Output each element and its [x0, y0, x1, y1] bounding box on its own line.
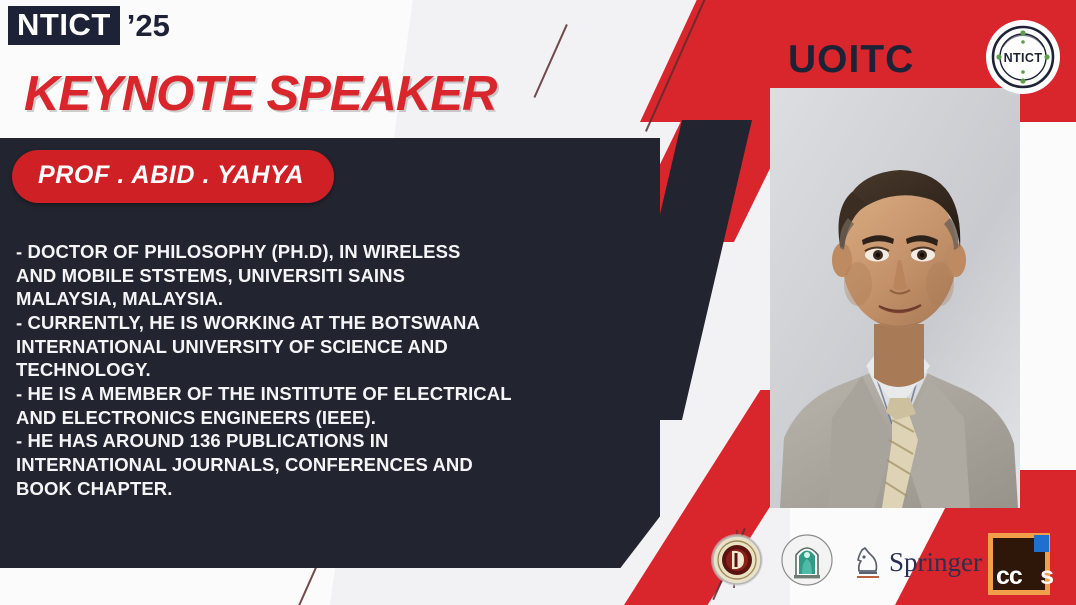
- keynote-speaker-poster: NTICT ’25 KEYNOTE SPEAKER PROF . ABID . …: [0, 0, 1076, 605]
- ccis-inner-square: cc s: [993, 538, 1045, 590]
- bio-line: - HE HAS AROUND 136 PUBLICATIONS IN: [16, 429, 666, 453]
- ntict-wordmark: NTICT: [8, 6, 120, 45]
- arch-emblem-icon: [780, 532, 834, 593]
- sponsor-logo-strip: Springer: [708, 530, 982, 595]
- bio-line: AND ELECTRONICS ENGINEERS (IEEE).: [16, 406, 666, 430]
- bio-line: - HE IS A MEMBER OF THE INSTITUTE OF ELE…: [16, 382, 666, 406]
- university-seal-icon: [708, 530, 766, 595]
- bio-line: INTERNATIONAL JOURNALS, CONFERENCES AND: [16, 453, 666, 477]
- springer-logo: Springer: [852, 544, 982, 582]
- ntict-circular-badge-icon: NTICT: [986, 20, 1060, 94]
- ntict-year: ’25: [127, 10, 170, 41]
- ccis-label-main: cc: [996, 564, 1022, 589]
- speaker-photo: [770, 88, 1020, 508]
- bio-line: TECHNOLOGY.: [16, 358, 666, 382]
- bio-line: - CURRENTLY, HE IS WORKING AT THE BOTSWA…: [16, 311, 666, 335]
- speaker-bio: - DOCTOR OF PHILOSOPHY (PH.D), IN WIRELE…: [16, 240, 666, 500]
- bio-line: AND MOBILE STSTEMS, UNIVERSITI SAINS: [16, 264, 666, 288]
- ccis-logo-icon: cc s: [988, 533, 1050, 595]
- speaker-name-badge: PROF . ABID . YAHYA: [12, 150, 334, 203]
- bio-line: MALAYSIA, MALAYSIA.: [16, 287, 666, 311]
- page-title: KEYNOTE SPEAKER: [24, 70, 496, 119]
- bio-line: INTERNATIONAL UNIVERSITY OF SCIENCE AND: [16, 335, 666, 359]
- springer-wordmark: Springer: [889, 549, 982, 576]
- ccis-blue-square: [1034, 535, 1049, 552]
- bio-line: - DOCTOR OF PHILOSOPHY (PH.D), IN WIRELE…: [16, 240, 666, 264]
- svg-text:NTICT: NTICT: [1004, 51, 1043, 65]
- bio-line: BOOK CHAPTER.: [16, 477, 666, 501]
- uoitc-wordmark: UOITC: [788, 40, 914, 79]
- springer-knight-icon: [852, 544, 884, 582]
- ccis-label-tail: s: [1040, 564, 1054, 589]
- ntict-logo: NTICT ’25: [8, 6, 170, 45]
